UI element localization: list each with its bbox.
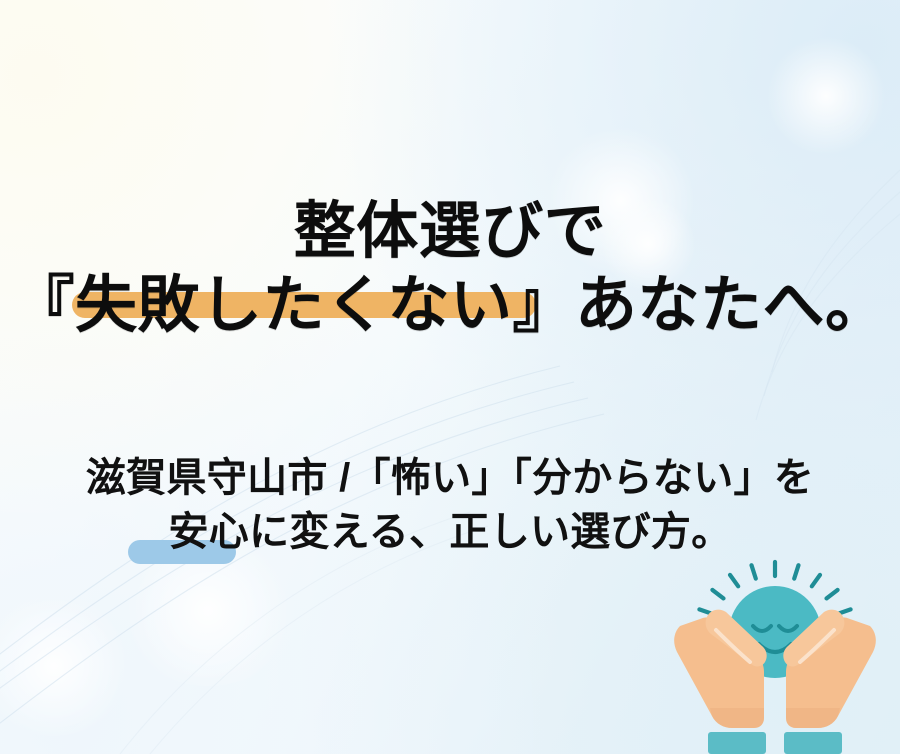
headline-line-1: 整体選びで <box>0 198 900 266</box>
subheadline-block: 滋賀県守山市 /「怖い」「分からない」を 安心に変える、正しい選び方。 <box>0 452 900 559</box>
headline-block: 整体選びで 『失敗したくない』あなたへ。 <box>0 198 900 340</box>
background-glow <box>0 596 134 736</box>
right-hand-cuff <box>784 732 842 754</box>
poster-canvas: 整体選びで 『失敗したくない』あなたへ。 滋賀県守山市 /「怖い」「分からない」… <box>0 0 900 754</box>
hands-cradling-sun-illustration <box>650 546 900 754</box>
left-hand-cuff <box>708 732 766 754</box>
subheadline-line-1: 滋賀県守山市 /「怖い」「分からない」を <box>0 452 900 506</box>
background-glow <box>766 36 886 156</box>
headline-line-2: 『失敗したくない』あなたへ。 <box>0 272 900 340</box>
subheadline-line-2: 安心に変える、正しい選び方。 <box>0 506 900 560</box>
